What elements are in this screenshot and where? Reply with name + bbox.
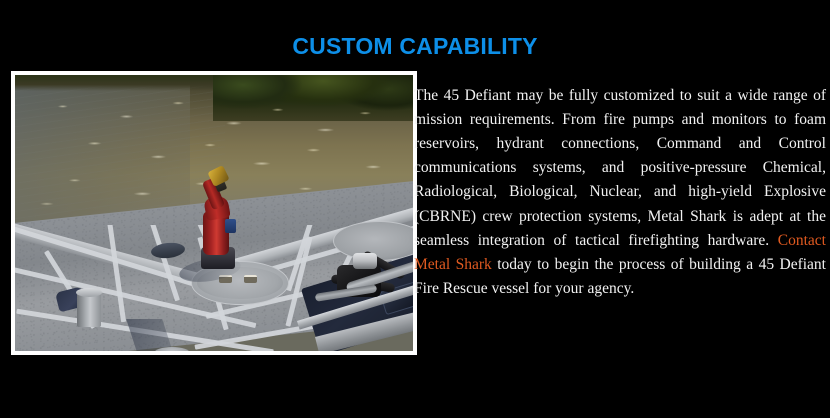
nonskid-stripe (106, 225, 126, 322)
photo-frame (11, 71, 417, 355)
winch-drum (353, 253, 377, 269)
page-root: { "page": { "background_color": "#000000… (0, 0, 830, 418)
paragraph-text-lead: The 45 Defiant may be fully customized t… (414, 87, 826, 249)
body-paragraph: The 45 Defiant may be fully customized t… (414, 84, 826, 302)
page-title: CUSTOM CAPABILITY (0, 32, 830, 60)
bow-bollard-cap (76, 288, 102, 297)
boat-deck-photo (15, 75, 413, 351)
hatch-handle (244, 275, 257, 283)
content-row: The 45 Defiant may be fully customized t… (0, 62, 830, 362)
nonskid-stripe (138, 225, 180, 301)
deck-post (162, 307, 179, 351)
fire-monitor (187, 167, 251, 271)
monitor-control-box (225, 219, 236, 233)
far-shore-strip (15, 75, 245, 91)
